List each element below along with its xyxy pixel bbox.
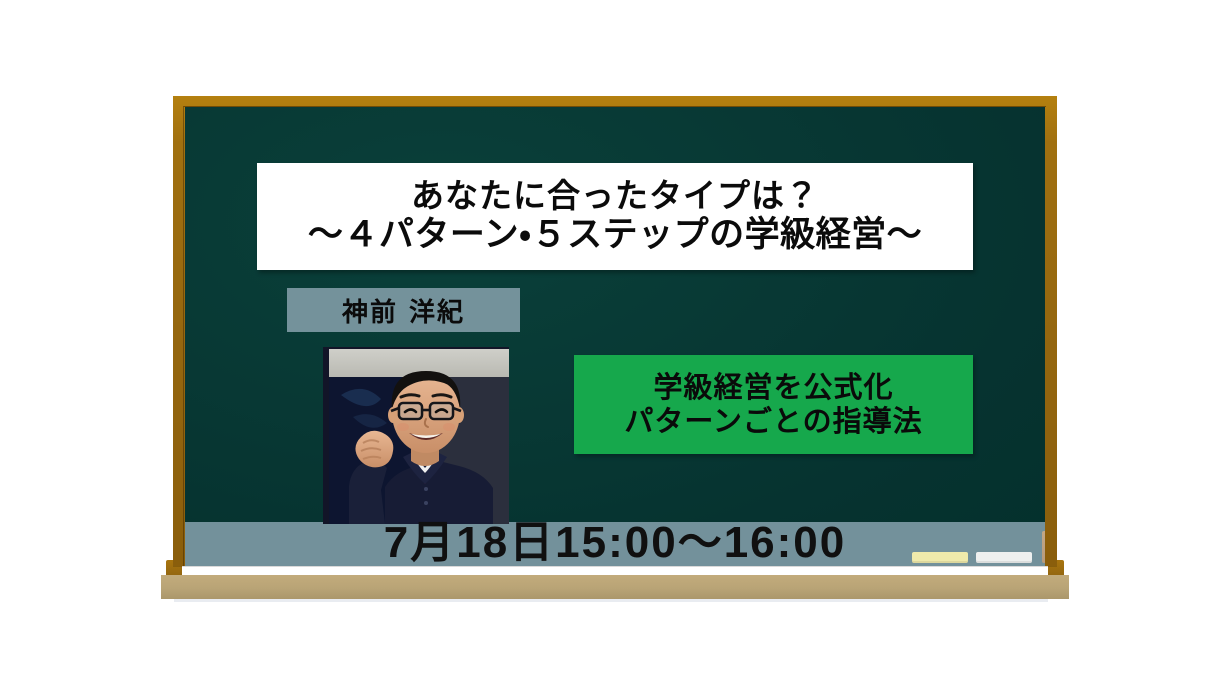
speaker-portrait-illustration bbox=[323, 347, 509, 524]
schedule-datetime: 7月18日15:00～16:00 bbox=[185, 506, 1045, 566]
chalk-tray-ledge bbox=[161, 575, 1069, 599]
speaker-name-label: 神前 洋紀 bbox=[342, 292, 465, 329]
speaker-name-badge: 神前 洋紀 bbox=[287, 288, 520, 332]
page-title-line-1: あなたに合ったタイプは？ bbox=[411, 178, 819, 215]
highlight-box: 学級経営を公式化 パターンごとの指導法 bbox=[574, 355, 973, 454]
highlight-line-1: 学級経営を公式化 bbox=[653, 371, 893, 404]
chalkboard-frame: あなたに合ったタイプは？ ～４パターン・５ステップの学級経営～ 神前 洋紀 bbox=[173, 96, 1057, 566]
title-panel: あなたに合ったタイプは？ ～４パターン・５ステップの学級経営～ bbox=[257, 163, 973, 270]
chalkboard-assembly: あなたに合ったタイプは？ ～４パターン・５ステップの学級経営～ 神前 洋紀 bbox=[173, 96, 1057, 588]
speaker-photo bbox=[323, 347, 509, 524]
highlight-line-2: パターンごとの指導法 bbox=[624, 405, 922, 438]
chalkboard-surface: あなたに合ったタイプは？ ～４パターン・５ステップの学級経営～ 神前 洋紀 bbox=[185, 107, 1045, 566]
poster-stage: あなたに合ったタイプは？ ～４パターン・５ステップの学級経営～ 神前 洋紀 bbox=[0, 0, 1210, 680]
page-title-line-2: ～４パターン・５ステップの学級経営～ bbox=[308, 215, 922, 256]
